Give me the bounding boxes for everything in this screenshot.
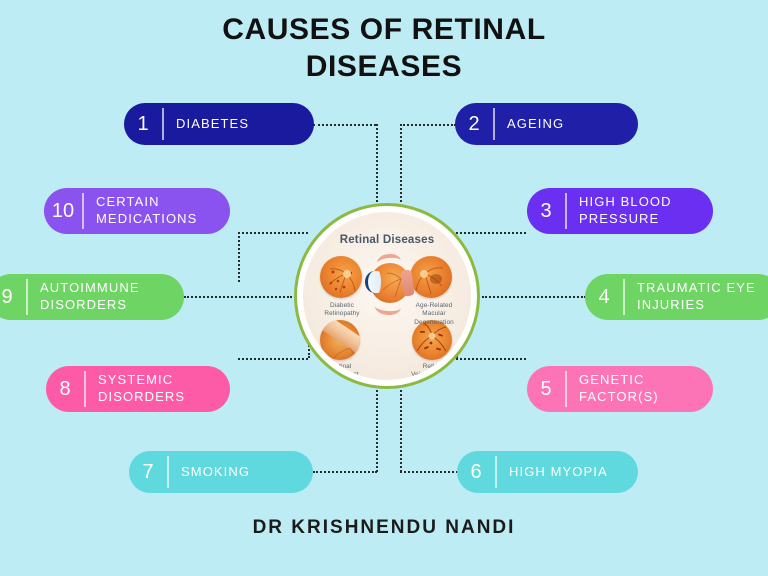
cause-number-4: 4 <box>585 287 623 307</box>
connector-1 <box>313 124 376 126</box>
cause-number-10: 10 <box>44 201 82 221</box>
center-label-retinal-vein-occlusion: Retinal Vein Occlusion <box>401 363 465 380</box>
center-heading: Retinal Diseases <box>303 234 471 246</box>
connector-10-vert <box>238 232 240 282</box>
retinal-diseases-diagram: Retinal Diseases <box>294 203 480 389</box>
fundus-amd-icon <box>410 256 452 298</box>
cause-pill-1[interactable]: 1 DIABETES <box>124 103 314 145</box>
cause-pill-6[interactable]: 6 HIGH MYOPIA <box>457 451 638 493</box>
retina-vessels-icon <box>410 256 452 298</box>
cause-label-2: AGEING <box>495 116 638 133</box>
cause-label-3: HIGH BLOOD PRESSURE <box>567 194 713 227</box>
cause-number-5: 5 <box>527 379 565 399</box>
cause-label-8: SYSTEMIC DISORDERS <box>86 372 230 405</box>
page-title: CAUSES OF RETINAL DISEASES <box>0 12 768 85</box>
retina-vessels-icon <box>320 256 362 298</box>
cause-pill-10[interactable]: 10 CERTAIN MEDICATIONS <box>44 188 230 234</box>
connector-6-vert <box>400 390 402 472</box>
center-inner: Retinal Diseases <box>303 212 471 380</box>
cause-number-2: 2 <box>455 114 493 134</box>
cause-label-1: DIABETES <box>164 116 314 133</box>
connector-6 <box>400 471 458 473</box>
author-credit: DR KRISHNENDU NANDI <box>0 517 768 539</box>
cause-pill-3[interactable]: 3 HIGH BLOOD PRESSURE <box>527 188 713 234</box>
fundus-diabetic-retinopathy-icon <box>320 256 362 298</box>
cause-pill-8[interactable]: 8 SYSTEMIC DISORDERS <box>46 366 230 412</box>
connector-7 <box>313 471 377 473</box>
page-title-line2: DISEASES <box>0 49 768 86</box>
cause-label-6: HIGH MYOPIA <box>497 464 638 481</box>
cause-number-6: 6 <box>457 462 495 482</box>
cause-number-3: 3 <box>527 201 565 221</box>
cornea-icon <box>365 271 381 293</box>
fundus-retinal-detachment-icon <box>320 320 360 360</box>
cause-number-9: 9 <box>0 287 26 307</box>
cause-pill-5[interactable]: 5 GENETIC FACTOR(S) <box>527 366 713 412</box>
center-label-retinal-detachment: Retinal Detachment <box>309 363 373 380</box>
connector-9 <box>184 296 292 298</box>
connector-1-vert <box>376 124 378 202</box>
page-title-line1: CAUSES OF RETINAL <box>0 12 768 49</box>
center-label-amd: Age-Related Macular Degeneration <box>399 302 469 327</box>
retina-vessels-icon <box>320 320 360 360</box>
connector-7-vert <box>376 390 378 472</box>
cause-number-7: 7 <box>129 462 167 482</box>
cause-pill-9[interactable]: 9 AUTOIMMUNE DISORDERS <box>0 274 184 320</box>
cause-pill-2[interactable]: 2 AGEING <box>455 103 638 145</box>
connector-4 <box>482 296 586 298</box>
infographic-canvas: CAUSES OF RETINAL DISEASES 1 DIABETES 2 … <box>0 0 768 576</box>
cause-label-9: AUTOIMMUNE DISORDERS <box>28 280 184 313</box>
center-label-diabetic-retinopathy: Diabetic Retinopathy <box>309 302 375 319</box>
cause-label-10: CERTAIN MEDICATIONS <box>84 194 230 227</box>
connector-2 <box>400 124 456 126</box>
cause-number-1: 1 <box>124 114 162 134</box>
cause-label-4: TRAUMATIC EYE INJURIES <box>625 280 768 313</box>
cause-number-8: 8 <box>46 379 84 399</box>
cause-label-7: SMOKING <box>169 464 313 481</box>
connector-2-vert <box>400 124 402 202</box>
cause-label-5: GENETIC FACTOR(S) <box>567 372 713 405</box>
cause-pill-4[interactable]: 4 TRAUMATIC EYE INJURIES <box>585 274 768 320</box>
cause-pill-7[interactable]: 7 SMOKING <box>129 451 313 493</box>
eye-muscle-bottom-icon <box>374 298 401 316</box>
